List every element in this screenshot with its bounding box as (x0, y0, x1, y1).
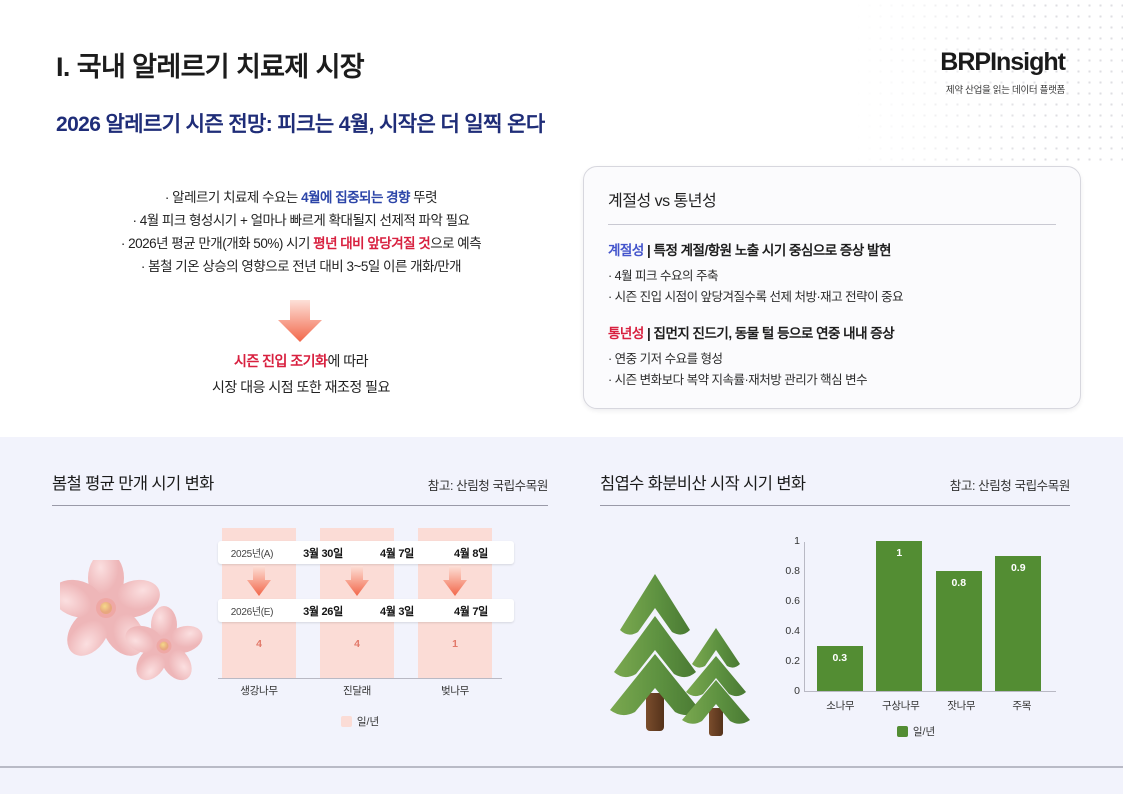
seasonality-card: 계절성 vs 통년성 계절성 | 특정 계절/항원 노출 시기 중심으로 증상 … (583, 166, 1081, 409)
logo-tagline: 제약 산업을 읽는 데이터 플랫폼 (940, 82, 1065, 96)
bloom-timing-panel: 봄철 평균 만개 시기 변화 참고: 산림청 국립수목원 (52, 470, 548, 743)
logo-bold-text: BRP (940, 48, 990, 76)
bar-group: 1 (872, 541, 926, 691)
bloom-panel-source: 참고: 산림청 국립수목원 (428, 475, 548, 494)
bullet-3-post: 으로 예측 (430, 236, 481, 251)
pollen-panel-header: 침엽수 화분비산 시작 시기 변화 참고: 산림청 국립수목원 (600, 470, 1070, 494)
table-row: 2026년(E) 3월 26일 4월 3일 4월 7일 (218, 599, 514, 622)
bullet-3-pre: · 2026년 평균 만개(개화 50%) 시기 (121, 236, 313, 251)
bar-series: 0.3 1 0.8 0.9 (810, 542, 1048, 691)
cell-value: 4월 8일 (434, 545, 508, 561)
bar-item: 0.9 (995, 556, 1041, 691)
seasonal-heading: 계절성 | 특정 계절/항원 노출 시기 중심으로 증상 발현 (608, 239, 1056, 259)
y-axis-line (804, 542, 805, 692)
table-row: 2025년(A) 3월 30일 4월 7일 4월 8일 (218, 541, 514, 564)
card-divider (608, 224, 1056, 225)
x-axis-categories: 소나무 구상나무 잣나무 주목 (810, 698, 1052, 713)
cell-value: 4월 7일 (360, 545, 434, 561)
row-label: 2026년(E) (218, 603, 286, 618)
pollen-panel-divider (600, 505, 1070, 506)
bullet-3-highlight: 평년 대비 앞당겨질 것 (313, 236, 430, 251)
card-title: 계절성 vs 통년성 (608, 187, 1056, 211)
delta-value: 4 (320, 638, 394, 650)
bloom-axis-line (218, 678, 502, 679)
bar-group: 0.8 (932, 571, 986, 691)
seasonal-item: · 시즌 진입 시점이 앞당겨질수록 선제 처방·재고 전략이 중요 (608, 287, 1056, 308)
bar-value-label: 0.3 (817, 652, 863, 664)
y-tick-label: 0.8 (780, 565, 800, 577)
conclusion-highlight: 시즌 진입 조기화 (234, 353, 327, 369)
down-arrow-icon (276, 300, 324, 342)
bullet-line-1: · 알레르기 치료제 수요는 4월에 집중되는 경향 뚜렷 (56, 186, 546, 209)
y-tick-label: 0.6 (780, 595, 800, 607)
bar-group: 0.3 (813, 646, 867, 691)
logo-wordmark: BRPInsight (940, 48, 1065, 77)
summary-bullets: · 알레르기 치료제 수요는 4월에 집중되는 경향 뚜렷 · 4월 피크 형성… (56, 186, 546, 278)
legend-label: 일/년 (357, 714, 379, 729)
cell-value: 3월 30일 (286, 545, 360, 561)
y-tick-label: 0 (780, 685, 800, 697)
footer-strip (0, 768, 1123, 794)
category-label: 소나무 (813, 698, 867, 713)
perennial-heading: 통년성 | 집먼지 진드기, 동물 털 등으로 연중 내내 증상 (608, 322, 1056, 342)
bullet-line-4: · 봄철 기온 상승의 영향으로 전년 대비 3~5일 이른 개화/만개 (56, 255, 546, 278)
cell-value: 4월 7일 (434, 603, 508, 619)
card-spacer (608, 308, 1056, 322)
pollen-bar-chart: 1 0.8 0.6 0.4 0.2 0 0.3 1 (600, 528, 1070, 748)
bar-item: 0.3 (817, 646, 863, 691)
conclusion-line-1: 시즌 진입 조기화에 따라 (56, 348, 546, 374)
x-axis-line (804, 691, 1056, 692)
delta-value: 1 (418, 638, 492, 650)
category-label: 진달래 (320, 683, 394, 698)
bloom-legend: 일/년 (218, 714, 502, 729)
pollen-panel-source: 참고: 산림청 국립수목원 (950, 475, 1070, 494)
bar-value-label: 0.8 (936, 577, 982, 589)
bar-item: 0.8 (936, 571, 982, 691)
seasonal-separator: | (644, 243, 654, 258)
bloom-panel-divider (52, 505, 548, 506)
category-label: 잣나무 (934, 698, 988, 713)
bullet-1-highlight: 4월에 집중되는 경향 (301, 190, 410, 205)
bloom-panel-title: 봄철 평균 만개 시기 변화 (52, 470, 214, 494)
delta-value: 4 (222, 638, 296, 650)
trend-arrow-icon (442, 566, 468, 596)
trend-arrow-icon (246, 566, 272, 596)
bloom-panel-header: 봄철 평균 만개 시기 변화 참고: 산림청 국립수목원 (52, 470, 548, 494)
bullet-line-2: · 4월 피크 형성시기 + 얼마나 빠르게 확대될지 선제적 파악 필요 (56, 209, 546, 232)
pollen-legend: 일/년 (780, 724, 1052, 739)
category-label: 구상나무 (874, 698, 928, 713)
pollen-panel-title: 침엽수 화분비산 시작 시기 변화 (600, 470, 805, 494)
bar-value-label: 1 (876, 547, 922, 559)
bar-group: 0.9 (991, 556, 1045, 691)
seasonal-item: · 4월 피크 수요의 주축 (608, 266, 1056, 287)
perennial-head-text: 집먼지 진드기, 동물 털 등으로 연중 내내 증상 (654, 326, 895, 341)
pollen-start-panel: 침엽수 화분비산 시작 시기 변화 참고: 산림청 국립수목원 (600, 470, 1070, 748)
bullet-line-3: · 2026년 평균 만개(개화 50%) 시기 평년 대비 앞당겨질 것으로 … (56, 232, 546, 255)
logo-thin-text: Insight (990, 48, 1065, 76)
cell-value: 4월 3일 (360, 603, 434, 619)
page-subtitle: 2026 알레르기 시즌 전망: 피크는 4월, 시작은 더 일찍 온다 (56, 108, 545, 138)
legend-label: 일/년 (913, 724, 935, 739)
conifer-tree-icon (604, 568, 764, 743)
perennial-item: · 연중 기저 수요를 형성 (608, 349, 1056, 370)
perennial-separator: | (644, 326, 654, 341)
legend-swatch (341, 716, 352, 727)
conclusion-line-1-post: 에 따라 (327, 353, 368, 369)
conclusion-line-2: 시장 대응 시점 또한 재조정 필요 (56, 374, 546, 400)
legend-swatch (897, 726, 908, 737)
seasonal-head-text: 특정 계절/항원 노출 시기 중심으로 증상 발현 (654, 243, 891, 258)
infographic-page: I. 국내 알레르기 치료제 시장 2026 알레르기 시즌 전망: 피크는 4… (0, 0, 1123, 794)
row-label: 2025년(A) (218, 545, 286, 560)
cell-value: 3월 26일 (286, 603, 360, 619)
y-tick-label: 1 (780, 535, 800, 547)
bullet-1-post: 뚜렷 (410, 190, 437, 205)
category-label: 주목 (995, 698, 1049, 713)
bar-item: 1 (876, 541, 922, 691)
bullet-1-pre: · 알레르기 치료제 수요는 (165, 190, 301, 205)
conclusion-text: 시즌 진입 조기화에 따라 시장 대응 시점 또한 재조정 필요 (56, 348, 546, 400)
category-label: 벚나무 (418, 683, 492, 698)
y-tick-label: 0.4 (780, 625, 800, 637)
brand-logo: BRPInsight 제약 산업을 읽는 데이터 플랫폼 (940, 48, 1065, 96)
perennial-item: · 시즌 변화보다 복약 지속률·재처방 관리가 핵심 변수 (608, 370, 1056, 391)
seasonal-key: 계절성 (608, 243, 644, 258)
y-tick-label: 0.2 (780, 655, 800, 667)
bar-value-label: 0.9 (995, 562, 1041, 574)
cherry-blossom-icon (60, 560, 210, 690)
bloom-table-chart: 2025년(A) 3월 30일 4월 7일 4월 8일 2026년(E) 3월 … (218, 528, 514, 743)
page-title: I. 국내 알레르기 치료제 시장 (56, 45, 364, 84)
category-label: 생강나무 (222, 683, 296, 698)
trend-arrow-icon (344, 566, 370, 596)
bar-plot-area: 1 0.8 0.6 0.4 0.2 0 0.3 1 (780, 542, 1052, 692)
perennial-key: 통년성 (608, 326, 644, 341)
